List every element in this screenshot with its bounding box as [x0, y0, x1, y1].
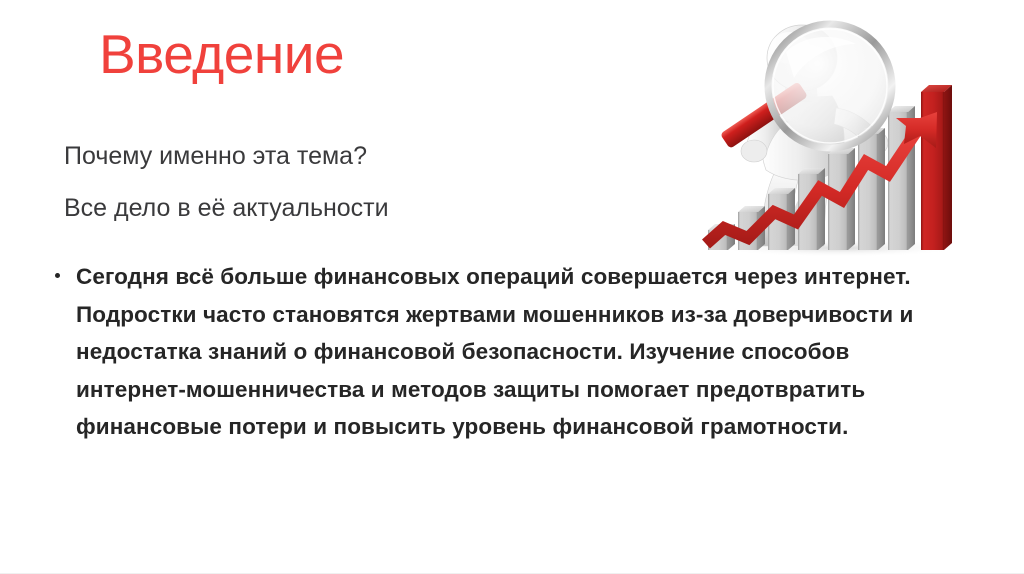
subtitle-line-1: Почему именно эта тема? — [64, 130, 664, 182]
figure-left-hand — [741, 140, 767, 162]
bar-8-highlight — [921, 85, 952, 250]
illustration-person-with-magnifier-and-growth-chart — [690, 8, 980, 258]
bullet-dot-icon — [55, 273, 60, 278]
body-text-block: Сегодня всё больше финансовых операций с… — [46, 258, 946, 446]
page-title: Введение — [99, 23, 344, 85]
list-item-text: Сегодня всё больше финансовых операций с… — [76, 264, 913, 439]
bar-6 — [858, 128, 885, 250]
subtitle-line-2: Все дело в её актуальности — [64, 182, 664, 234]
presentation-slide: Введение Почему именно эта тема? Все дел… — [0, 0, 1024, 574]
subtitle-block: Почему именно эта тема? Все дело в её ак… — [64, 130, 664, 234]
list-item: Сегодня всё больше финансовых операций с… — [46, 258, 946, 446]
magnifying-glass — [720, 24, 892, 149]
